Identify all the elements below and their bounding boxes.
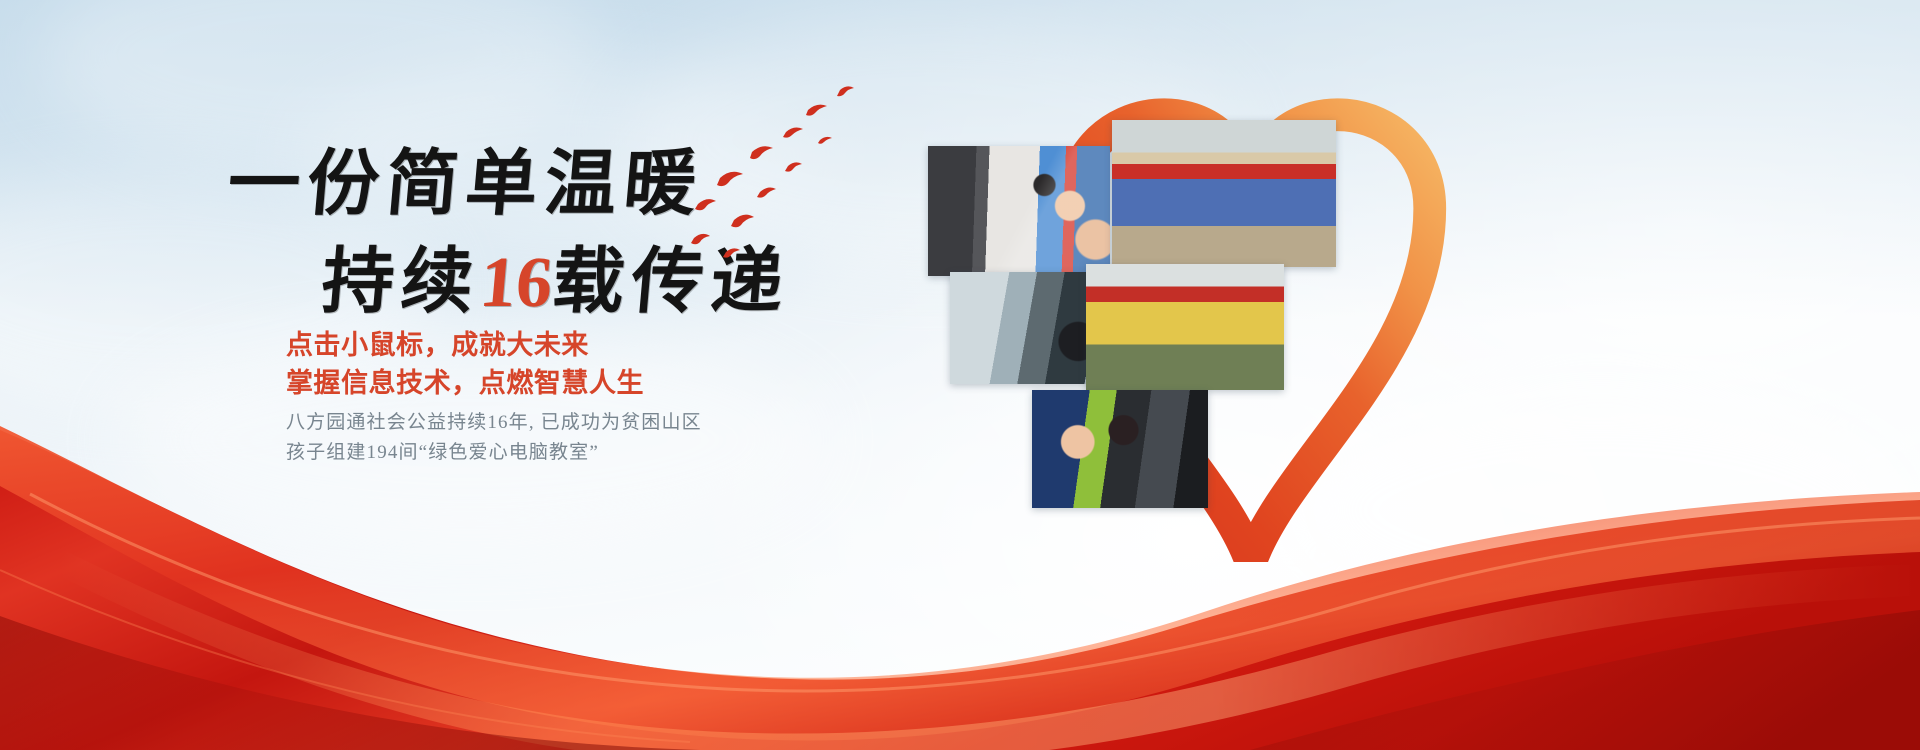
headline-line-1: 一份简单温暖 (0, 148, 763, 220)
headline-line-2: 持续16载传递 (0, 246, 763, 318)
subtitle-line-2: 掌握信息技术，点燃智慧人生 (286, 364, 926, 402)
headline-year-number: 16 (477, 242, 556, 322)
photo-donation-ceremony-group (1112, 120, 1336, 267)
red-ribbon-wave (0, 420, 1920, 750)
subtitle-line-1: 点击小鼠标，成就大未来 (286, 326, 926, 364)
headline-line-2-prefix: 持续 (319, 242, 484, 322)
photo-volunteers-group-award (1086, 264, 1284, 390)
headline: 一份简单温暖 持续16载传递 (0, 148, 760, 318)
photo-children-computer-lab (928, 146, 1110, 276)
banner-stage: 一份简单温暖 持续16载传递 点击小鼠标，成就大未来 掌握信息技术，点燃智慧人生… (0, 0, 1920, 750)
subtitle-block: 点击小鼠标，成就大未来 掌握信息技术，点燃智慧人生 (286, 326, 926, 402)
